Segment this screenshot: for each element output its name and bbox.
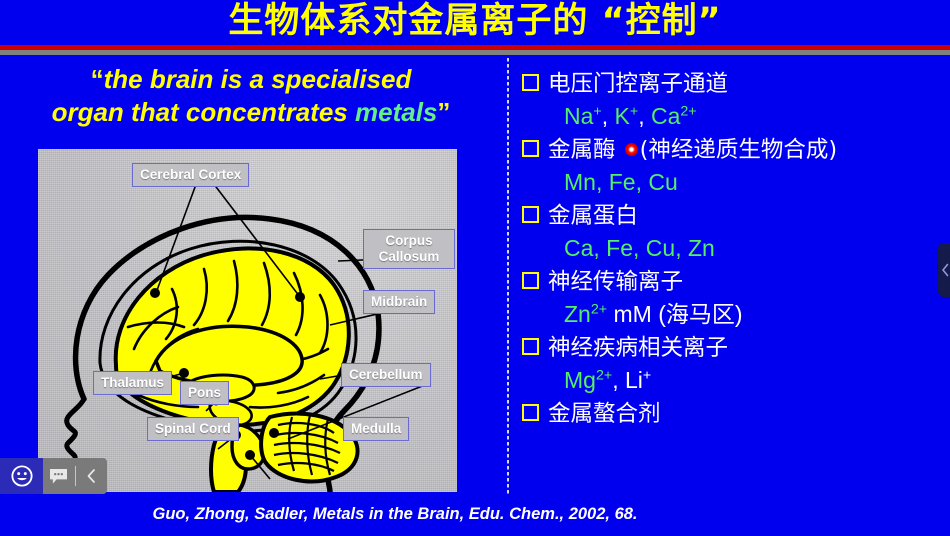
page-title: 生物体系对金属离子的 “控制”	[0, 0, 950, 44]
charge-zn: 2+	[591, 301, 607, 317]
citation-text: Guo, Zhong, Sadler, Metals in the Brain,…	[0, 505, 790, 524]
charge-k: +	[630, 103, 638, 119]
concentration-note: mM (海马区)	[607, 301, 742, 327]
bullet-item-chelators: 金属螯合剂	[520, 398, 950, 430]
charge-na: +	[593, 103, 601, 119]
bullet-square-icon	[520, 398, 548, 430]
bullet-subtext: Mn, Fe, Cu	[564, 166, 950, 198]
element-li: , Li	[612, 367, 643, 393]
divider-gray	[0, 50, 950, 55]
bullet-subtext: Zn2+ mM (海马区)	[564, 298, 950, 330]
charge-mg: 2+	[596, 367, 612, 383]
bullet-item-metalloenzymes: 金属酶 (神经递质生物合成) Mn, Fe, Cu	[520, 134, 950, 198]
label-cerebral-cortex: Cerebral Cortex	[132, 163, 249, 187]
heading-part-b: (神经递质生物合成)	[640, 137, 838, 163]
label-cerebellum: Cerebellum	[341, 363, 431, 387]
sep-2: ,	[638, 103, 651, 129]
charge-li: +	[643, 367, 651, 383]
label-midbrain: Midbrain	[363, 290, 435, 314]
label-thalamus: Thalamus	[93, 371, 172, 395]
bullet-square-icon	[520, 332, 548, 364]
sep-1: ,	[602, 103, 615, 129]
slide-canvas: 生物体系对金属离子的 “控制” “the brain is a speciali…	[0, 0, 950, 536]
bullet-heading: 电压门控离子通道	[548, 68, 728, 100]
label-medulla: Medulla	[343, 417, 409, 441]
bullet-heading: 金属蛋白	[548, 200, 638, 232]
smiley-face-icon	[11, 465, 33, 487]
bullet-subtext: Ca, Fe, Cu, Zn	[564, 232, 950, 264]
chevron-left-icon	[85, 468, 98, 484]
quote-line-2-pre: organ that concentrates	[52, 97, 355, 127]
element-na: Na	[564, 103, 593, 129]
bullet-heading: 神经传输离子	[548, 266, 683, 298]
title-area: 生物体系对金属离子的 “控制”	[0, 0, 950, 46]
collapse-button[interactable]	[75, 458, 107, 494]
quote-open: “	[91, 64, 104, 94]
bullet-heading: 金属螯合剂	[548, 398, 661, 430]
right-column-bullets: 电压门控离子通道 Na+, K+, Ca2+ 金属酶 (神经递质生物合成) Mn…	[520, 68, 950, 432]
bullet-item-metalloproteins: 金属蛋白 Ca, Fe, Cu, Zn	[520, 200, 950, 264]
bullet-heading: 金属酶 (神经递质生物合成)	[548, 134, 837, 166]
chevron-icon	[941, 263, 950, 277]
brain-anatomy-figure: Cerebral Cortex CorpusCallosum Midbrain …	[38, 149, 457, 492]
element-k: K	[615, 103, 630, 129]
red-dot-icon	[625, 143, 638, 156]
bullet-heading: 神经疾病相关离子	[548, 332, 728, 364]
label-corpus-callosum: CorpusCallosum	[363, 229, 455, 269]
label-spinal-cord: Spinal Cord	[147, 417, 239, 441]
quote-highlight-metals: metals	[355, 97, 437, 127]
label-pons: Pons	[180, 381, 229, 405]
bullet-square-icon	[520, 266, 548, 298]
element-mg: Mg	[564, 367, 596, 393]
quote-close: ”	[437, 97, 450, 127]
bullet-item-disease-ions: 神经疾病相关离子 Mg2+, Li+	[520, 332, 950, 396]
left-column: “the brain is a specialised organ that c…	[0, 57, 500, 497]
feedback-button[interactable]	[0, 458, 43, 494]
bullet-square-icon	[520, 134, 548, 166]
element-zn: Zn	[564, 301, 591, 327]
bullet-item-ion-channels: 电压门控离子通道 Na+, K+, Ca2+	[520, 68, 950, 132]
bullet-subtext: Mg2+, Li+	[564, 364, 950, 396]
brain-quote: “the brain is a specialised organ that c…	[8, 63, 494, 129]
side-panel-toggle[interactable]	[938, 243, 950, 297]
element-ca: Ca	[651, 103, 680, 129]
chat-button[interactable]	[43, 458, 75, 494]
chat-bubble-icon	[49, 468, 68, 485]
bullet-subtext: Na+, K+, Ca2+	[564, 100, 950, 132]
charge-ca: 2+	[680, 103, 696, 119]
column-divider	[507, 58, 509, 496]
bullet-item-neurotransmission-ions: 神经传输离子 Zn2+ mM (海马区)	[520, 266, 950, 330]
overlay-toolbar	[43, 458, 107, 494]
bullet-square-icon	[520, 68, 548, 100]
bullet-square-icon	[520, 200, 548, 232]
heading-part-a: 金属酶	[548, 137, 623, 163]
quote-line-1: the brain is a specialised	[104, 64, 412, 94]
